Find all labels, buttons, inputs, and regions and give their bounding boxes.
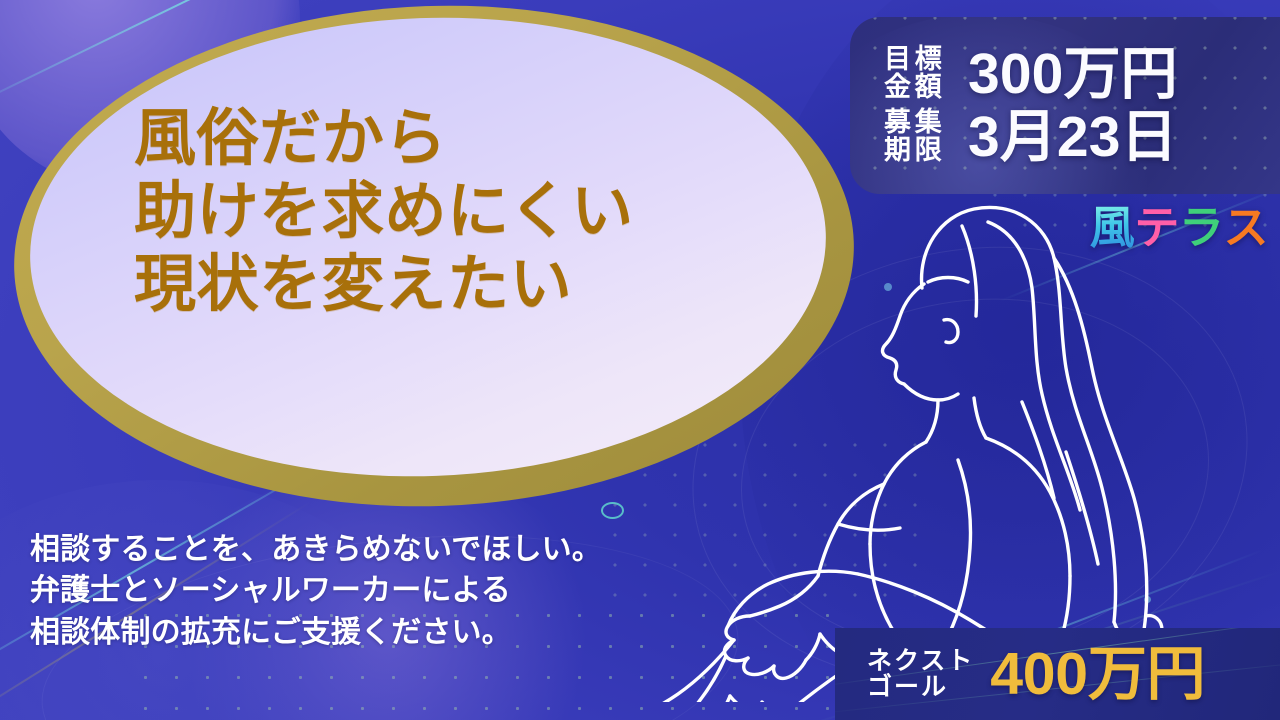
headline-speech-bubble: 風俗だから 助けを求めにくい 現状を変えたい [14, 6, 854, 506]
goal-info-badge: 目標 金額 300万円 募集 期限 3月23日 [850, 17, 1280, 194]
deadline-value: 3月23日 [968, 109, 1178, 166]
logo-char-te: テ [1134, 205, 1179, 250]
futerasu-logo[interactable]: 風テラス [1090, 205, 1268, 250]
logo-char-ra: ラ [1179, 205, 1224, 250]
poster-canvas: 風俗だから 助けを求めにくい 現状を変えたい 相談することを、あきらめないでほし… [0, 0, 1280, 720]
lead-paragraph: 相談することを、あきらめないでほしい。 弁護士とソーシャルワーカーによる 相談体… [30, 529, 670, 653]
next-goal-value: 400万円 [990, 645, 1205, 704]
target-amount-value: 300万円 [968, 46, 1178, 103]
next-goal-label: ネクスト ゴール [867, 648, 974, 701]
logo-char-su: ス [1223, 205, 1268, 250]
badge-rows: 目標 金額 300万円 募集 期限 3月23日 [850, 36, 1280, 176]
target-amount-label: 目標 金額 [884, 46, 950, 101]
badge-row-target-amount: 目標 金額 300万円 [884, 46, 1280, 103]
deadline-label: 募集 期限 [884, 109, 950, 164]
badge-row-deadline: 募集 期限 3月23日 [884, 109, 1280, 166]
headline-text: 風俗だから 助けを求めにくい 現状を変えたい [134, 102, 834, 321]
logo-char-kaze: 風 [1090, 205, 1135, 250]
next-goal-banner: ネクスト ゴール 400万円 [835, 628, 1280, 720]
